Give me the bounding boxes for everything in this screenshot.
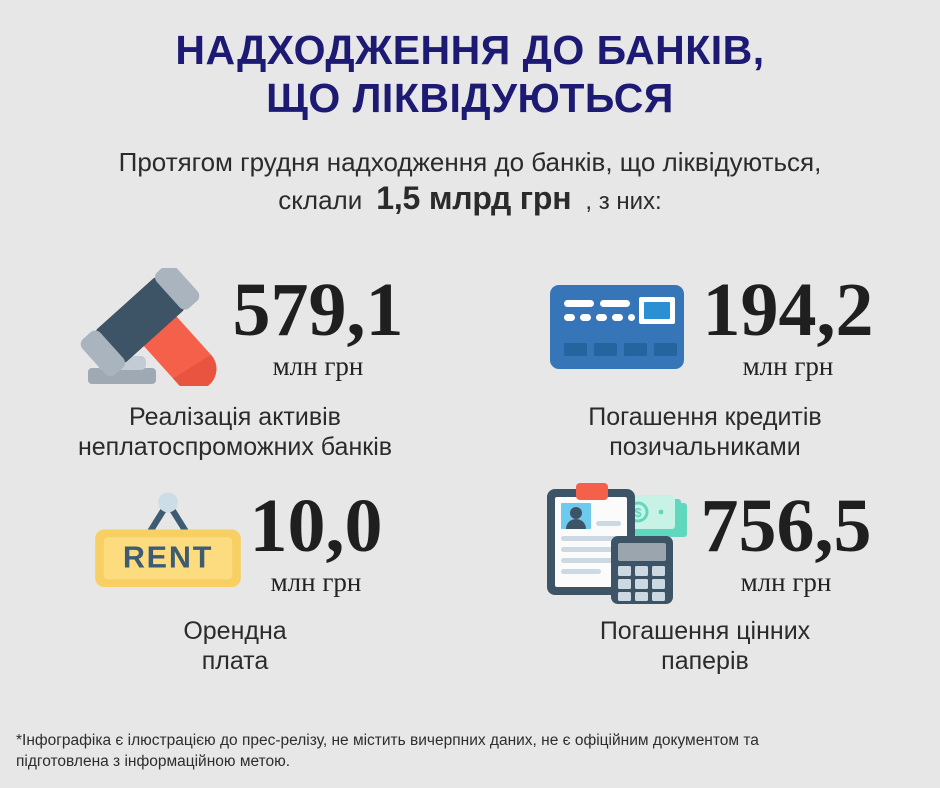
title-line-2: ЩО ЛІКВІДУЮТЬСЯ [0,74,940,122]
stats-grid: 579,1 млн грн Реалізація активів неплато… [0,268,940,676]
stat-value: 579,1 [233,273,404,347]
stat-caption-line-1: Реалізація активів [78,402,392,432]
stat-value-block: 10,0 млн грн [250,489,383,597]
calculator-icon [611,536,673,604]
stat-top: 194,2 млн грн [537,268,874,386]
rent-label: RENT [122,540,212,574]
stat-top: 579,1 млн грн [67,268,404,386]
gavel-icon [67,268,227,386]
stats-row-2: RENT 10,0 млн грн Орендна плата [0,484,940,676]
stat-caption: Погашення цінних паперів [600,616,810,676]
stat-caption: Орендна плата [183,616,286,676]
stat-card-rent: RENT 10,0 млн грн Орендна плата [0,484,470,676]
stat-unit: млн грн [741,567,832,597]
stat-caption: Реалізація активів неплатоспроможних бан… [78,402,392,462]
stat-caption-line-2: плата [183,646,286,676]
stat-value: 194,2 [703,273,874,347]
page-title: НАДХОДЖЕННЯ ДО БАНКІВ, ЩО ЛІКВІДУЮТЬСЯ [0,0,940,122]
stat-caption-line-2: позичальниками [588,432,821,462]
footnote: *Інфографіка є ілюстрацією до прес-реліз… [16,730,924,772]
stat-caption-line-2: неплатоспроможних банків [78,432,392,462]
subtitle-suffix: , з них: [585,184,661,220]
subtitle: Протягом грудня надходження до банків, щ… [0,144,940,220]
subtitle-line-2: склали 1,5 млрд грн , з них: [0,180,940,220]
stat-caption-line-1: Погашення кредитів [588,402,821,432]
stat-caption-line-1: Погашення цінних [600,616,810,646]
stat-unit: млн грн [273,351,364,381]
stat-value-block: 579,1 млн грн [233,273,404,381]
subtitle-total-amount: 1,5 млрд грн [376,180,571,216]
securities-icon: $ [539,484,699,602]
stat-top: RENT 10,0 млн грн [88,484,383,602]
stat-value-block: 194,2 млн грн [703,273,874,381]
stat-value: 10,0 [250,489,383,563]
stat-caption-line-2: паперів [600,646,810,676]
title-line-1: НАДХОДЖЕННЯ ДО БАНКІВ, [0,26,940,74]
stat-value: 756,5 [701,489,872,563]
stat-unit: млн грн [743,351,834,381]
stat-caption-line-1: Орендна [183,616,286,646]
stat-card-securities: $ [470,484,940,676]
stats-row-1: 579,1 млн грн Реалізація активів неплато… [0,268,940,462]
infographic-page: НАДХОДЖЕННЯ ДО БАНКІВ, ЩО ЛІКВІДУЮТЬСЯ П… [0,0,940,788]
svg-text:$: $ [634,505,642,520]
stat-top: $ [539,484,872,602]
credit-card-icon [537,268,697,386]
stat-caption: Погашення кредитів позичальниками [588,402,821,462]
stat-unit: млн грн [271,567,362,597]
subtitle-prefix: склали [278,182,362,218]
footnote-line-1: *Інфографіка є ілюстрацією до прес-реліз… [16,730,924,751]
stat-card-loan-repayments: 194,2 млн грн Погашення кредитів позичал… [470,268,940,462]
stat-card-asset-sales: 579,1 млн грн Реалізація активів неплато… [0,268,470,462]
rent-sign-icon: RENT [88,484,248,602]
footnote-line-2: підготовлена з інформаційною метою. [16,751,924,772]
subtitle-line-1: Протягом грудня надходження до банків, щ… [0,144,940,180]
stat-value-block: 756,5 млн грн [701,489,872,597]
